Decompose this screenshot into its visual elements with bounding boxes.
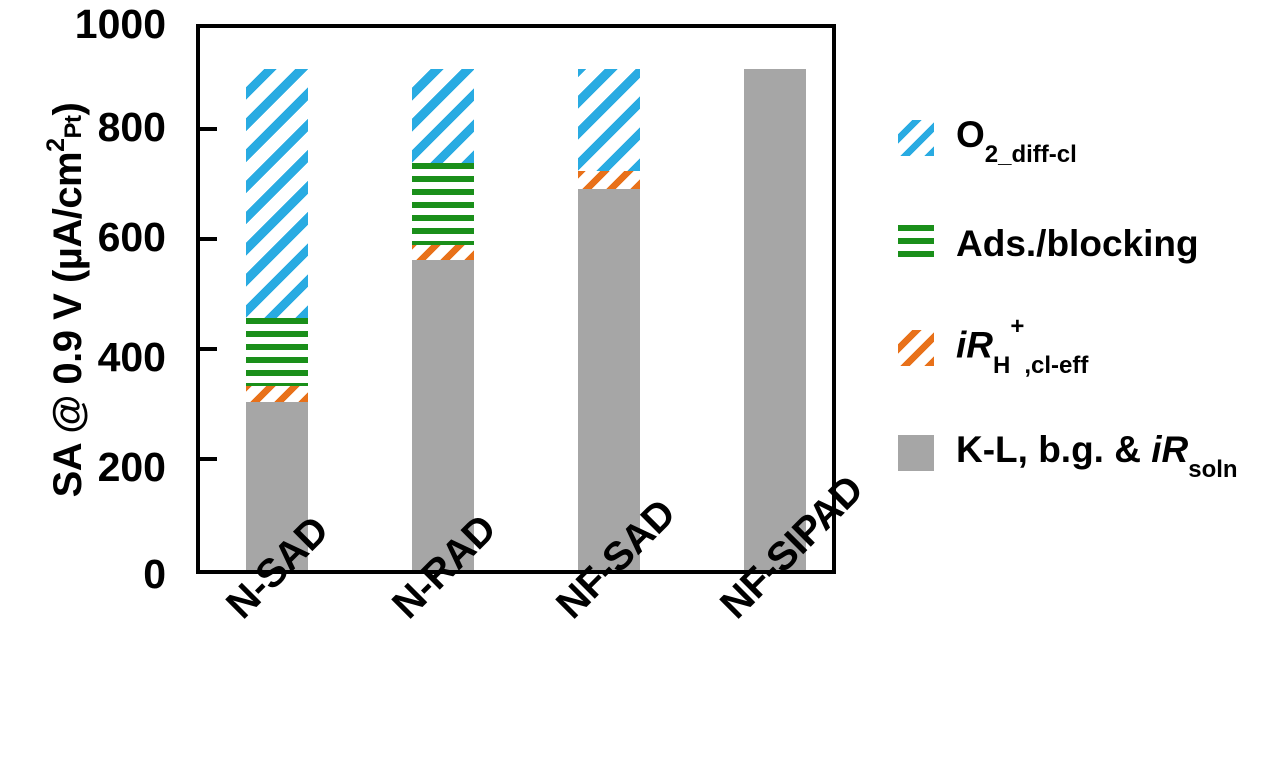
legend-item-o2-diff-cl[interactable]: O2_diff-cl: [898, 110, 1077, 166]
legend-label-ir-h-cl-eff: iRH+,cl-eff: [956, 325, 1088, 371]
legend-swatch-ads-blocking-icon: [898, 225, 934, 261]
bar-n-sad-segment-ads-blocking: [246, 318, 308, 386]
bar-nf-sad-segment-o2-diff-cl: [578, 69, 640, 171]
legend-swatch-o2-diff-cl-icon: [898, 120, 934, 156]
bar-nf-sipad-segment-kl-bg-irsoln: [744, 69, 806, 570]
bar-n-rad-segment-ads-blocking: [412, 163, 474, 244]
legend-item-ir-h-cl-eff[interactable]: iRH+,cl-eff: [898, 320, 1088, 376]
bar-n-rad-segment-ir-h-cl-eff: [412, 245, 474, 261]
y-tick-label-800: 800: [46, 107, 166, 148]
bar-n-sad-segment-o2-diff-cl: [246, 69, 308, 318]
y-tick-label-600: 600: [46, 217, 166, 258]
y-tick-label-0: 0: [46, 554, 166, 595]
bars-container: [200, 28, 832, 570]
bar-n-sad-segment-ir-h-cl-eff: [246, 386, 308, 402]
legend-swatch-ir-h-cl-eff-icon: [898, 330, 934, 366]
legend-label-ads-blocking: Ads./blocking: [956, 225, 1199, 262]
legend-label-o2-diff-cl: O2_diff-cl: [956, 116, 1077, 160]
legend-swatch-kl-bg-irsoln-icon: [898, 435, 934, 471]
y-tick-label-1000: 1000: [46, 4, 166, 45]
legend-item-kl-bg-irsoln[interactable]: K-L, b.g. & iRsoln: [898, 425, 1238, 481]
y-tick-label-400: 400: [46, 337, 166, 378]
bar-nf-sad-segment-ir-h-cl-eff: [578, 171, 640, 189]
bar-n-rad-segment-o2-diff-cl: [412, 69, 474, 164]
plot-area: [196, 24, 836, 574]
stacked-bar-chart-figure: SA @ 0.9 V (µA/cm2Pt) 1000 800 600 400 2…: [0, 0, 1280, 779]
legend-item-ads-blocking[interactable]: Ads./blocking: [898, 215, 1199, 271]
y-tick-label-200: 200: [46, 447, 166, 488]
legend-label-kl-bg-irsoln: K-L, b.g. & iRsoln: [956, 431, 1238, 475]
y-axis-tick-labels: 1000 800 600 400 200 0: [46, 0, 166, 779]
